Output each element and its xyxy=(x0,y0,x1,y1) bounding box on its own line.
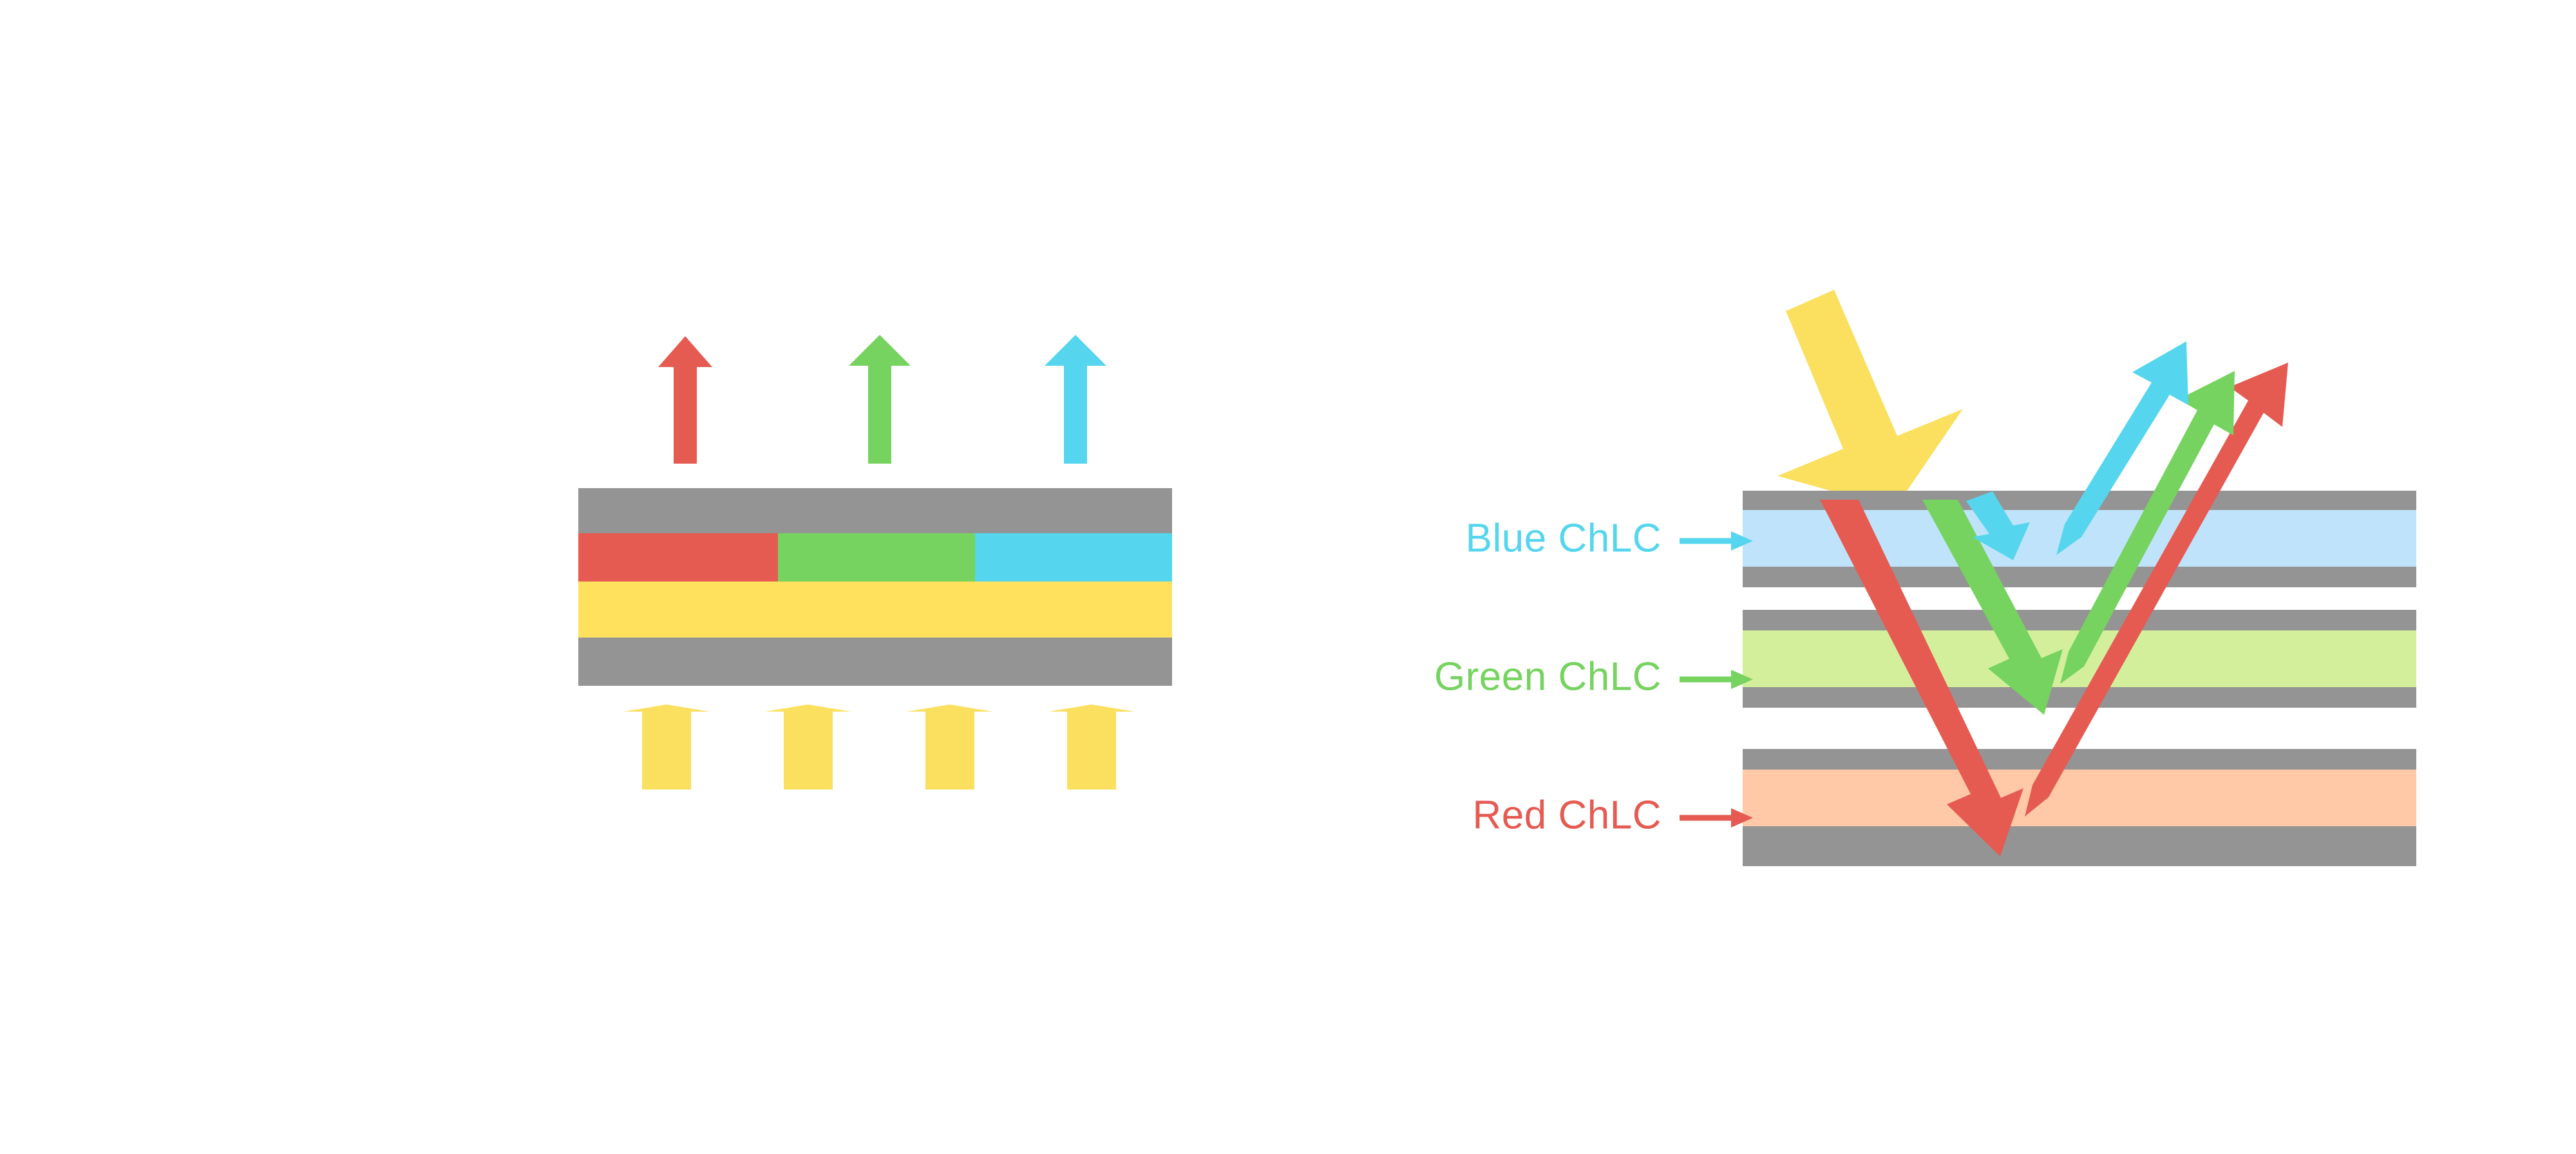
left-layer-stack xyxy=(578,488,1172,686)
green-chlc-label: Green ChLC xyxy=(1434,654,1662,699)
blue-chlc-label: Blue ChLC xyxy=(1466,516,1662,560)
color-filter-layer xyxy=(578,533,1172,582)
red-chlc-label: Red ChLC xyxy=(1473,793,1662,837)
backlight-arrow-4 xyxy=(1048,705,1135,790)
green-chlc-label-group: Green ChLC xyxy=(1434,654,1753,699)
green-cell-top-electrode xyxy=(1743,610,2416,630)
diagram-canvas: Blue ChLC Green ChLC Red ChLC xyxy=(0,0,2576,1154)
red-filter-segment xyxy=(578,533,778,582)
green-filter-segment xyxy=(778,533,975,582)
backlight-arrow-1 xyxy=(623,705,710,790)
green-chlc-label-arrow-icon xyxy=(1680,670,1753,689)
left-panel xyxy=(578,335,1172,790)
right-panel: Blue ChLC Green ChLC Red ChLC xyxy=(1434,290,2416,866)
cyan-emitted-arrow xyxy=(1045,335,1106,464)
red-chlc-cell xyxy=(1743,749,2416,866)
red-cell-top-electrode xyxy=(1743,749,2416,770)
backlight-arrow-3 xyxy=(907,705,993,790)
blue-chlc-label-arrow-icon xyxy=(1680,531,1753,551)
red-emitted-arrow xyxy=(658,336,712,464)
red-ray-up xyxy=(2025,363,2288,817)
red-chlc-label-group: Red ChLC xyxy=(1473,793,1753,837)
chlc-labels: Blue ChLC Green ChLC Red ChLC xyxy=(1434,516,1753,837)
backlight-arrows xyxy=(623,705,1135,790)
blue-cell-bottom-electrode xyxy=(1743,567,2416,587)
green-emitted-arrow xyxy=(849,335,911,464)
blue-chlc-label-group: Blue ChLC xyxy=(1466,516,1753,560)
yellow-backlight-layer xyxy=(578,582,1172,638)
red-chlc-layer xyxy=(1743,770,2416,826)
red-cell-bottom-electrode xyxy=(1743,826,2416,866)
top-gray-layer xyxy=(578,488,1172,533)
backlight-arrow-2 xyxy=(765,705,851,790)
incident-light-arrow xyxy=(1777,290,1963,509)
figure-root: Blue ChLC Green ChLC Red ChLC xyxy=(0,0,2576,1154)
emitted-arrows-group xyxy=(658,335,1106,464)
red-chlc-label-arrow-icon xyxy=(1680,808,1753,828)
bottom-gray-layer xyxy=(578,638,1172,686)
blue-filter-segment xyxy=(975,533,1172,582)
